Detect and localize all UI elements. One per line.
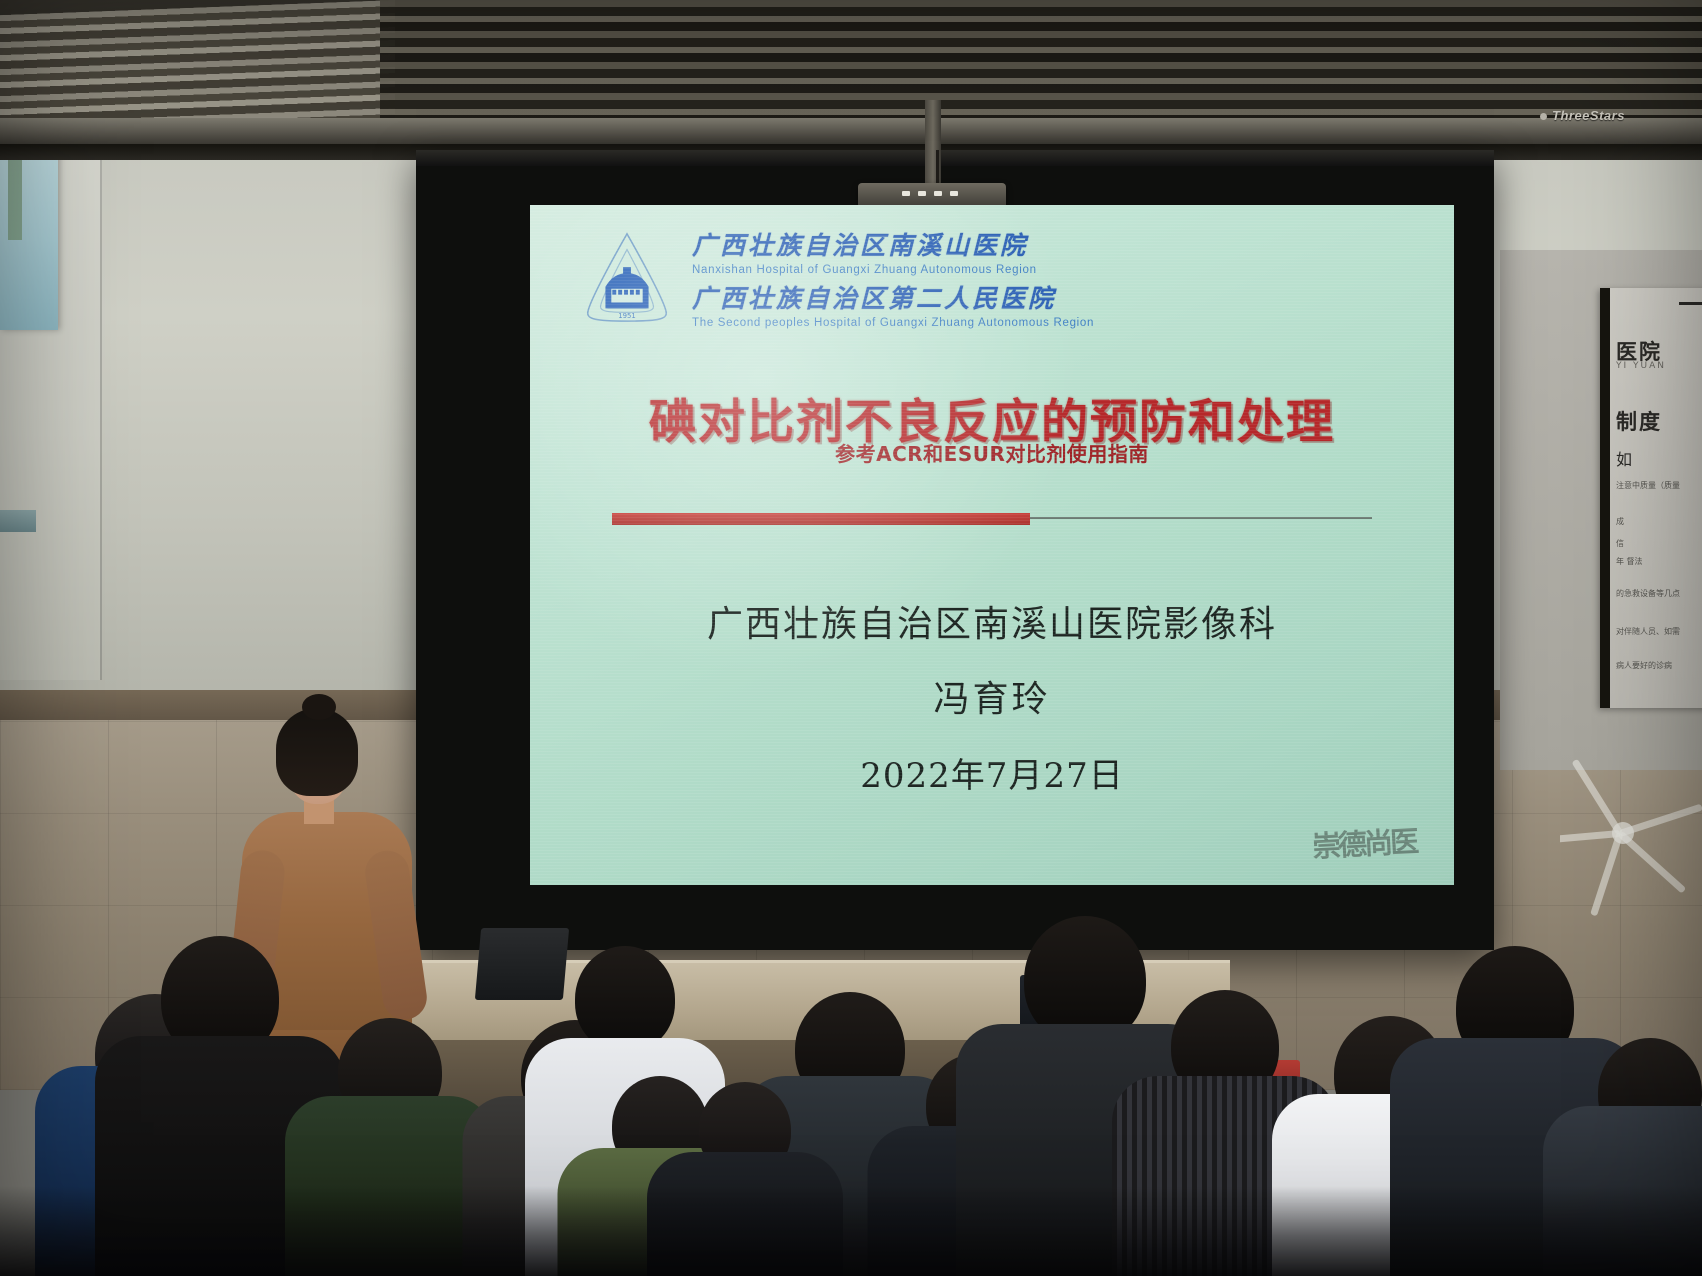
dot-icon (1540, 113, 1547, 120)
poster-line-7: 年 督法 (1616, 556, 1643, 567)
hospital-name-block: 广西壮族自治区南溪山医院 Nanxishan Hospital of Guang… (692, 226, 1094, 329)
audience-member (660, 1076, 830, 1276)
divider-thin-line (1030, 517, 1372, 519)
svg-text:1951: 1951 (618, 312, 635, 320)
poster-line-5: 成 (1616, 516, 1624, 527)
poster-pinyin: YI YUAN (1616, 361, 1666, 371)
poster-line-10: 病人要好的诊病 (1616, 660, 1672, 671)
ceiling-slats-right (380, 0, 1702, 120)
slide-divider (612, 513, 1372, 525)
projector-brand-text: ThreeStars (1552, 108, 1625, 123)
wall-poster: 医院 YI YUAN 制度 如 注意中质量（质量 成 信 年 督法 的急救设备等… (1600, 288, 1702, 708)
poster-line-4: 注意中质量（质量 (1616, 480, 1680, 491)
hospital-name-cn-1: 广西壮族自治区南溪山医院 (692, 226, 1094, 262)
audience-member (1560, 1026, 1702, 1276)
seated-audience (0, 860, 1702, 1276)
poster-line-6: 信 (1616, 538, 1624, 549)
slide-subtitle: 参考ACR和ESUR对比剂使用指南 (530, 438, 1454, 467)
left-wall-vent (0, 510, 36, 532)
slide-date: 2022年7月27日 (530, 748, 1454, 797)
poster-line-8: 的急救设备等几点 (1616, 588, 1680, 599)
corner-bracket-icon (1679, 302, 1702, 331)
poster-line-9: 对伴随人员、如需 (1616, 626, 1680, 637)
poster-line-3: 如 (1616, 446, 1632, 470)
slide-organization: 广西壮族自治区南溪山医院影像科 (530, 595, 1454, 647)
ceiling-slats-left (0, 0, 395, 135)
slide-watermark: 崇德尚医 (1311, 818, 1417, 865)
slide-presenter-name: 冯育玲 (530, 670, 1454, 722)
slide-surface: 1951 广西壮族自治区南溪山医院 Nanxishan Hospital of … (530, 205, 1454, 885)
projector-brand-label: ThreeStars (1540, 108, 1625, 123)
audience-member (300, 1006, 480, 1276)
hospital-name-en-1: Nanxishan Hospital of Guangxi Zhuang Aut… (692, 264, 1094, 276)
divider-red-bar (612, 513, 1030, 525)
hospital-name-en-2: The Second peoples Hospital of Guangxi Z… (692, 317, 1094, 329)
poster-line-2: 制度 (1616, 406, 1662, 436)
slide-hospital-header: 1951 广西壮族自治区南溪山医院 Nanxishan Hospital of … (578, 223, 1408, 331)
lecture-hall-photo: 医院 YI YUAN 制度 如 注意中质量（质量 成 信 年 督法 的急救设备等… (0, 0, 1702, 1276)
hospital-name-cn-2: 广西壮族自治区第二人民医院 (692, 279, 1094, 315)
hospital-shield-logo: 1951 (578, 228, 676, 326)
ceiling-rail (0, 118, 1702, 144)
